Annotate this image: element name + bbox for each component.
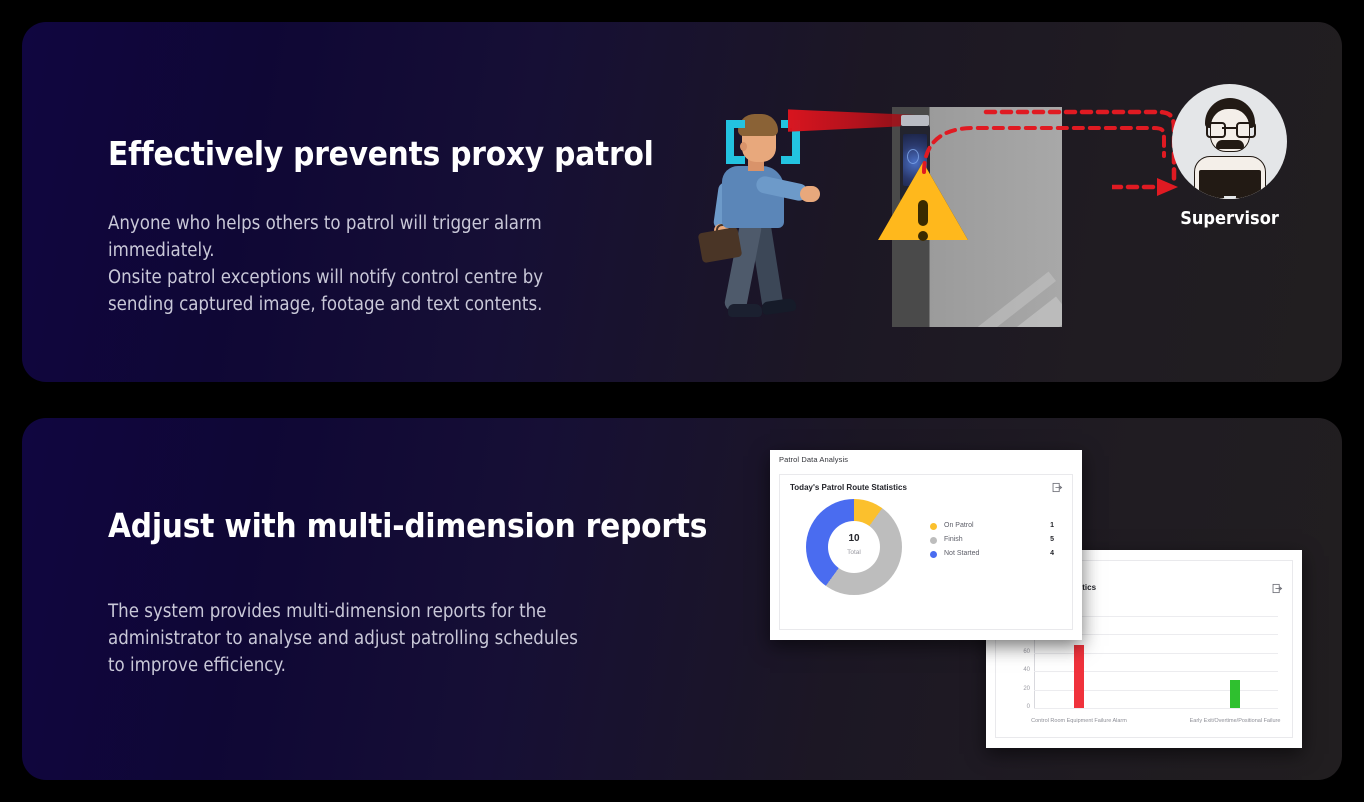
body-line: Anyone who helps others to patrol will t… <box>108 210 543 237</box>
window-title: Patrol Data Analysis <box>779 455 848 464</box>
legend-label: On Patrol <box>944 519 974 533</box>
dashboard-screenshots: rm Statistics Percentage 100 80 <box>748 428 1308 768</box>
legend-item: Not Started 4 <box>930 547 1060 561</box>
body-line: to improve efficiency. <box>108 652 578 679</box>
legend-color-swatch <box>930 537 937 544</box>
card-title: Today's Patrol Route Statistics <box>790 483 907 492</box>
card-window-titlebar: Patrol Data Analysis <box>770 450 1082 472</box>
body-line: Onsite patrol exceptions will notify con… <box>108 264 543 291</box>
bar-1 <box>1230 680 1240 708</box>
x-tick-label: Early Exit/Overtime/Positional Failure <box>1190 718 1281 724</box>
body-line: sending captured image, footage and text… <box>108 291 543 318</box>
legend-label: Not Started <box>944 547 979 561</box>
donut-center-label: Total <box>806 549 902 556</box>
export-icon[interactable] <box>1052 482 1063 493</box>
x-tick-label: Control Room Equipment Failure Alarm <box>1031 718 1127 724</box>
page-title: Effectively prevents proxy patrol <box>108 134 654 173</box>
patrol-route-donut-chart: 10 Total <box>806 499 902 595</box>
y-tick: 20 <box>1023 686 1030 692</box>
y-tick: 40 <box>1023 667 1030 673</box>
panel-a-body: Anyone who helps others to patrol will t… <box>108 210 543 318</box>
card-patrol-inner: Today's Patrol Route Statistics 10 Total <box>779 474 1073 630</box>
panel-a-text: Effectively prevents proxy patrol <box>108 134 654 173</box>
proxy-patrol-illustration: Supervisor <box>682 62 1342 362</box>
donut-hole <box>828 521 880 573</box>
page-title: Adjust with multi-dimension reports <box>108 506 707 545</box>
legend-value: 5 <box>1050 533 1054 547</box>
panel-b-text: Adjust with multi-dimension reports <box>108 506 707 545</box>
bar-0 <box>1074 645 1084 708</box>
export-icon[interactable] <box>1272 583 1283 594</box>
supervisor-avatar-icon <box>1172 84 1287 199</box>
body-line: administrator to analyse and adjust patr… <box>108 625 578 652</box>
alert-dashed-path-right-icon <box>982 98 1182 198</box>
supervisor-block: Supervisor <box>1172 84 1292 244</box>
legend-label: Finish <box>944 533 963 547</box>
supervisor-label: Supervisor <box>1172 208 1287 229</box>
y-tick: 60 <box>1023 649 1030 655</box>
legend-color-swatch <box>930 551 937 558</box>
card-patrol-data-analysis: Patrol Data Analysis Today's Patrol Rout… <box>770 450 1082 640</box>
panel-b-body: The system provides multi-dimension repo… <box>108 598 578 679</box>
donut-legend: On Patrol 1 Finish 5 Not Started 4 <box>930 519 1060 561</box>
legend-item: Finish 5 <box>930 533 1060 547</box>
legend-value: 4 <box>1050 547 1054 561</box>
body-line: The system provides multi-dimension repo… <box>108 598 578 625</box>
legend-value: 1 <box>1050 519 1054 533</box>
panel-multi-dimension-reports: Adjust with multi-dimension reports The … <box>22 418 1342 780</box>
legend-item: On Patrol 1 <box>930 519 1060 533</box>
body-line: immediately. <box>108 237 543 264</box>
panel-proxy-patrol: Effectively prevents proxy patrol Anyone… <box>22 22 1342 382</box>
legend-color-swatch <box>930 523 937 530</box>
donut-center-value: 10 <box>806 533 902 544</box>
slide-root: Effectively prevents proxy patrol Anyone… <box>0 0 1364 802</box>
y-tick: 0 <box>1027 704 1030 710</box>
